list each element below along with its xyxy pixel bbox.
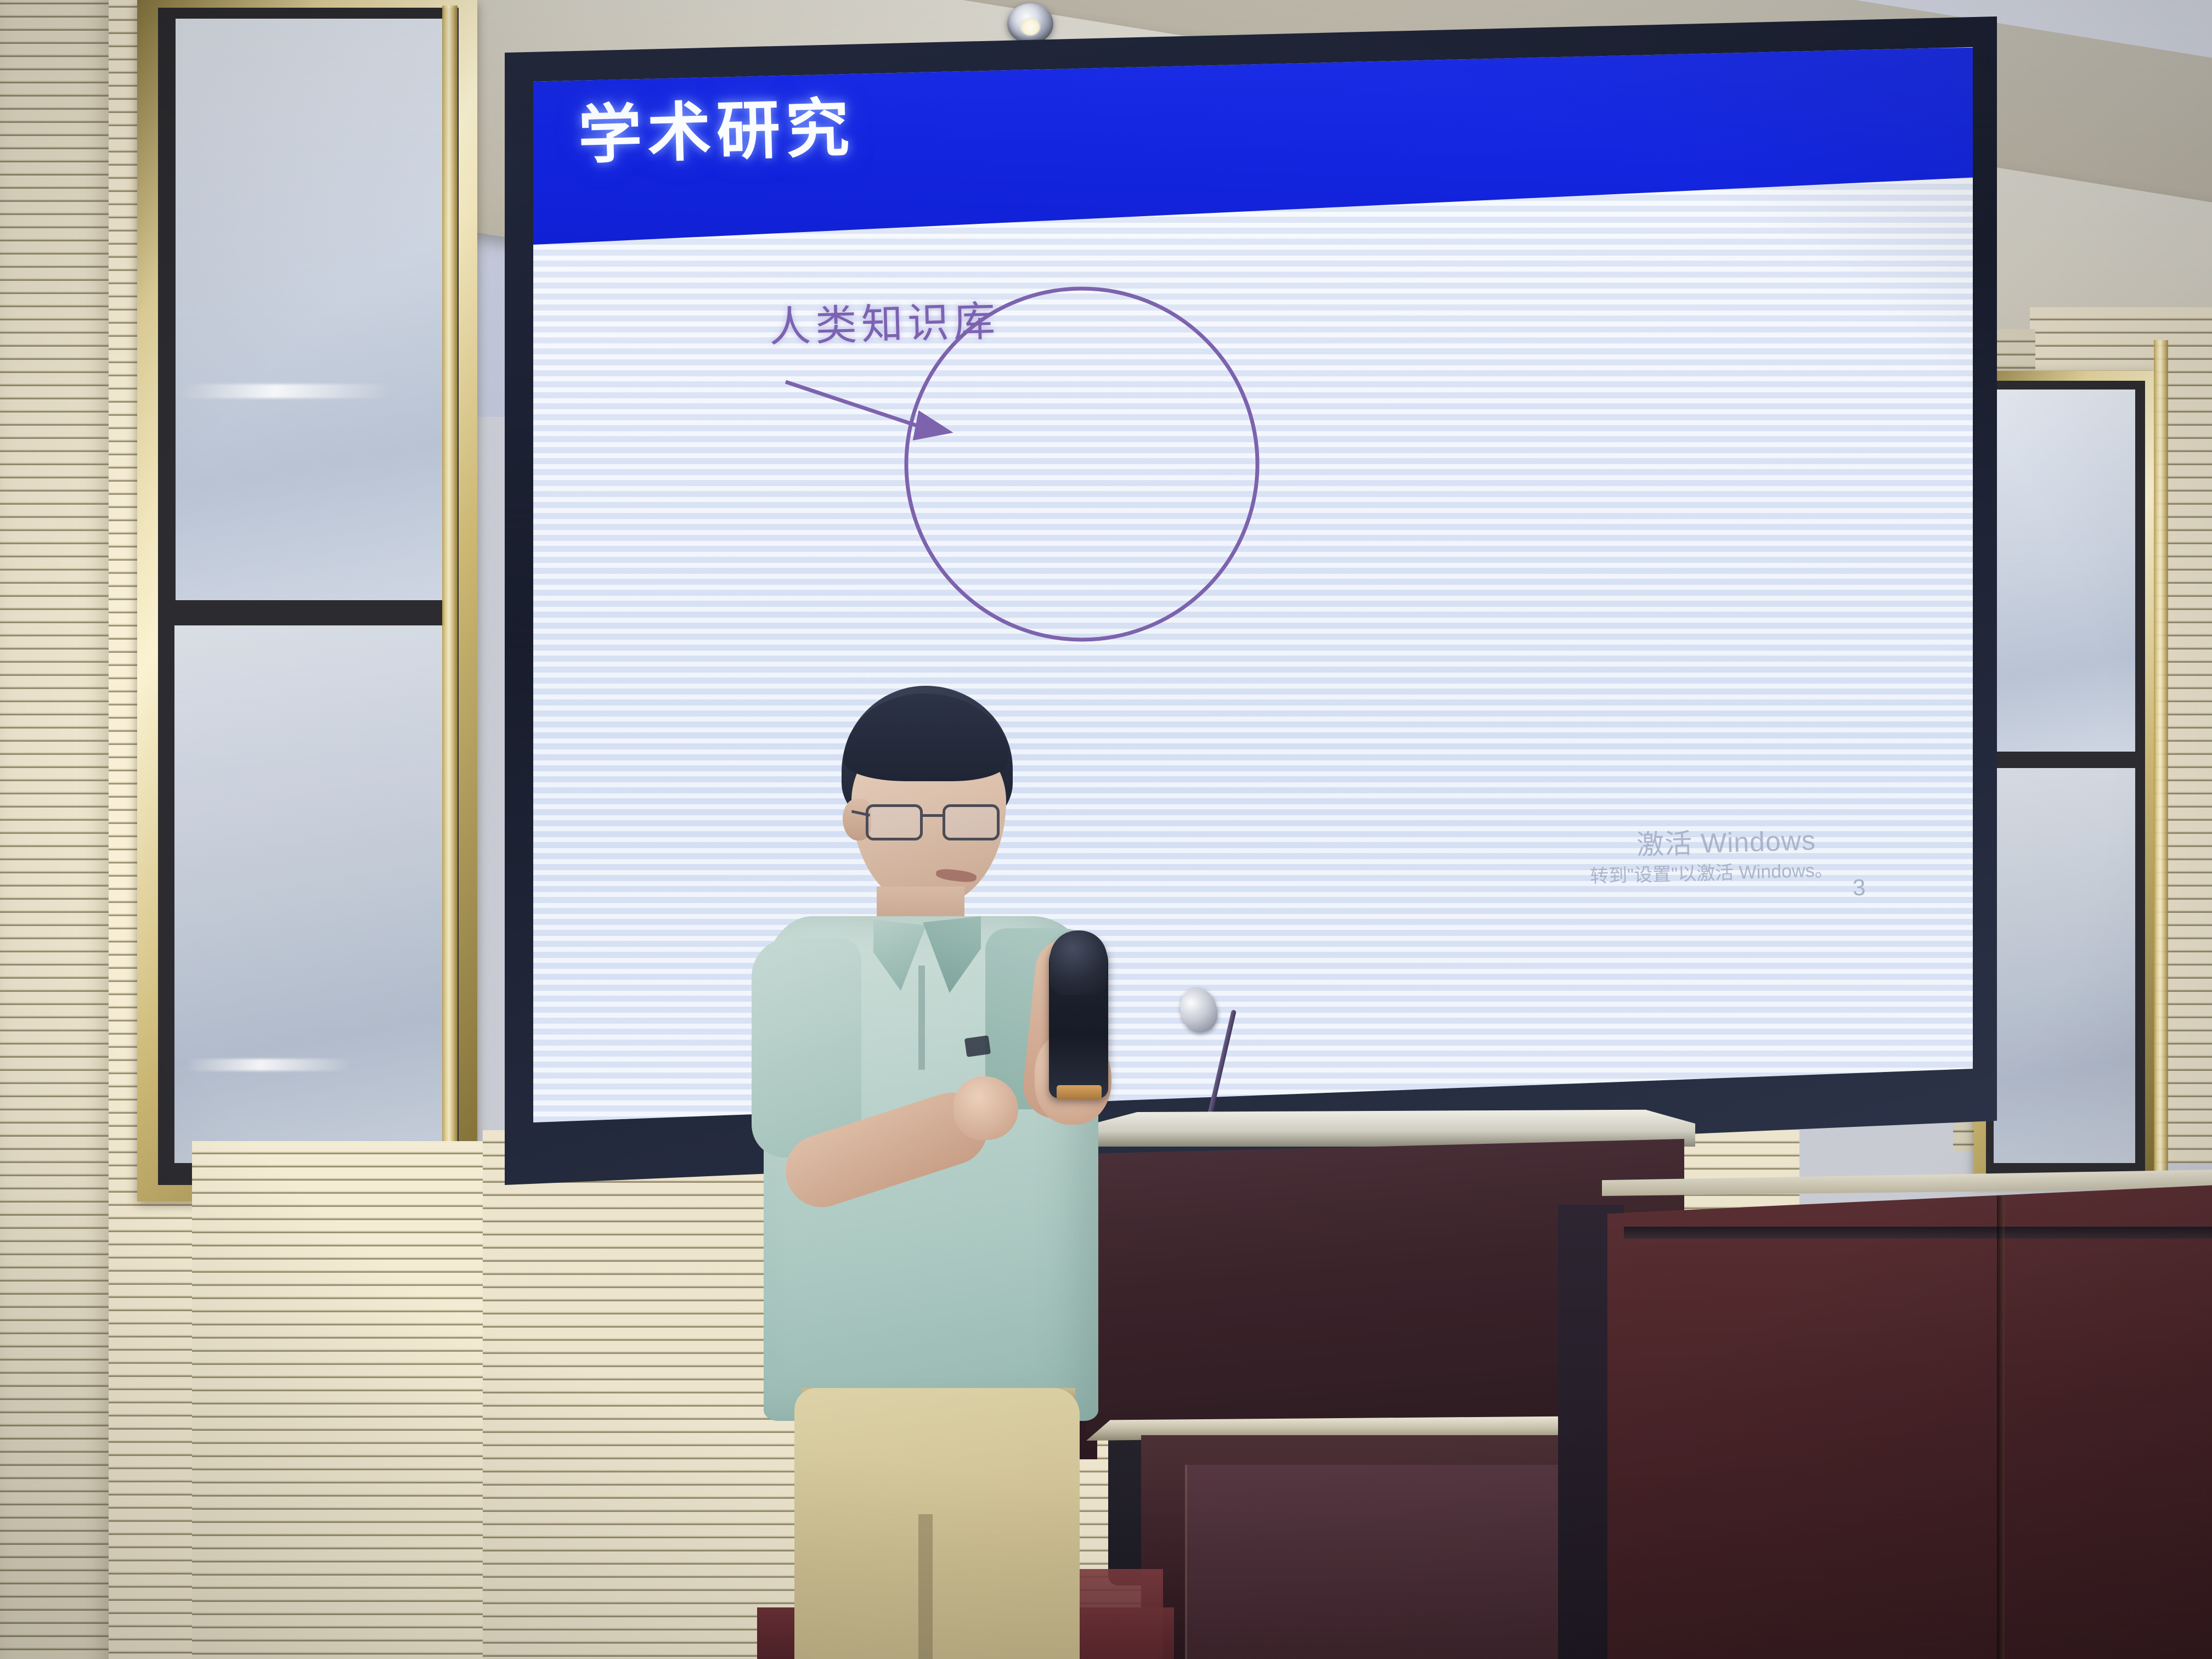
window-glare-left [181,384,390,398]
slide-page-number: 3 [1852,874,1866,901]
wall-trim-right [2154,340,2168,1180]
wooden-cabinet [1607,1185,2212,1659]
handheld-microphone-grille [1050,930,1107,995]
speaker-hand-left [953,1076,1018,1140]
shirt-logo [964,1035,991,1057]
window-glare-left-2 [187,1059,351,1071]
speaker-trouser-seam [918,1514,933,1659]
window-glass-left-upper [176,19,444,600]
cabinet-ledge [1624,1227,2212,1239]
lectern-base-inset [1185,1465,1591,1659]
speaker-trousers [794,1388,1080,1659]
window-glass-right-lower [1994,768,2135,1163]
knowledge-base-circle [906,289,1257,640]
eyeglass-lens-right [943,804,1000,840]
projection-screen: 学术研究 人类知识库 激活 Windows 转到"设置"以激活 Windows。… [505,16,1997,1185]
wall-panel-left-outer [0,0,115,1659]
eyeglass-lens-left [866,804,923,840]
eyeglass-bridge [923,814,945,817]
window-glass-left-lower [174,625,444,1163]
window-glass-right-upper [1995,390,2135,752]
handheld-microphone-band [1057,1085,1102,1099]
photo-scene: 学术研究 人类知识库 激活 Windows 转到"设置"以激活 Windows。… [0,0,2212,1659]
cabinet-seam [1997,1196,2005,1659]
speaker [730,680,1185,1659]
eyeglasses-icon [859,800,1016,846]
window-mullion-left [442,5,458,1190]
shirt-placket [918,966,925,1070]
